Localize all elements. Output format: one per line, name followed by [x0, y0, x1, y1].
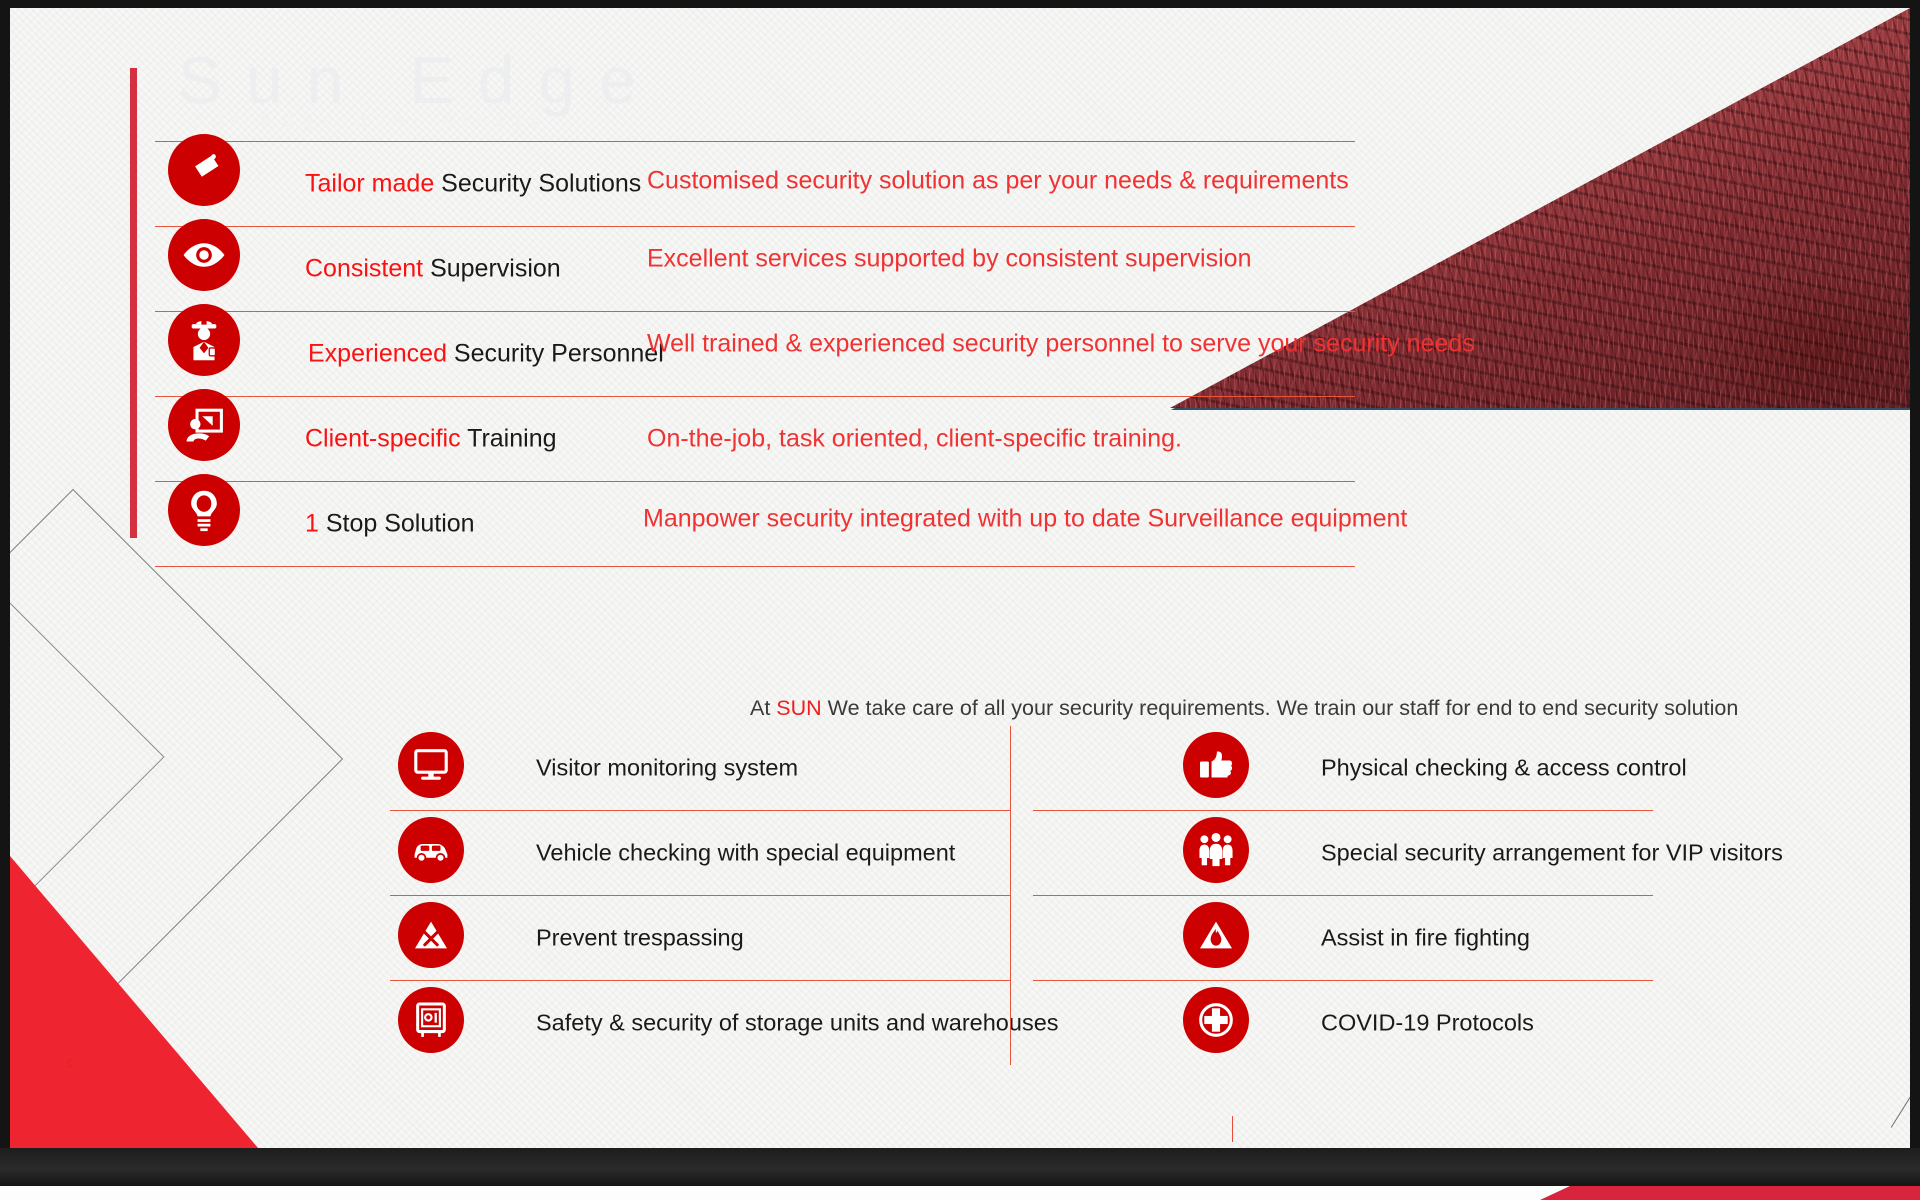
services-column-right: Physical checking & access control [1010, 726, 1653, 1065]
security-guard-icon [168, 304, 240, 376]
service-row[interactable]: Special security arrangement for VIP vis… [1033, 811, 1653, 896]
feature-title: Experienced Security Personnel [308, 340, 664, 369]
service-row[interactable]: COVID-19 Protocols [1033, 981, 1653, 1065]
fire-hazard-icon [1183, 902, 1249, 968]
page-subtitle: Our Edge over others [188, 111, 550, 133]
feature-row[interactable]: Consistent Supervision Excellent service… [155, 226, 1355, 311]
under-strip-red-accent [1540, 1186, 1920, 1200]
presentation-training-icon [168, 389, 240, 461]
tagline: At SUN We take care of all your security… [750, 696, 1738, 721]
feature-row[interactable]: 1 Stop Solution Manpower security integr… [155, 481, 1355, 567]
service-label: Vehicle checking with special equipment [536, 840, 955, 867]
feature-title: Tailor made Security Solutions [305, 170, 641, 199]
feature-description: On-the-job, task oriented, client-specif… [647, 425, 1182, 454]
service-row[interactable]: Physical checking & access control [1033, 726, 1653, 811]
feature-description: Well trained & experienced security pers… [647, 329, 1475, 358]
monitor-icon [398, 732, 464, 798]
feature-title-highlight: Tailor made [305, 170, 434, 198]
service-label: Physical checking & access control [1321, 755, 1687, 782]
title-accent-bar [130, 68, 137, 538]
feature-title: Client-specific Training [305, 425, 557, 454]
group-people-icon [1183, 817, 1249, 883]
corner-letter: c [66, 1054, 73, 1070]
page-title: Sun Edge [178, 44, 660, 117]
paintbrush-icon [168, 134, 240, 206]
feature-description: Excellent services supported by consiste… [647, 244, 1251, 273]
thumbs-up-icon [1183, 732, 1249, 798]
service-label: Visitor monitoring system [536, 755, 798, 782]
feature-title-rest: Security Personnel [447, 340, 664, 368]
feature-row[interactable]: Tailor made Security Solutions Customise… [155, 141, 1355, 226]
feature-row[interactable]: Client-specific Training On-the-job, tas… [155, 396, 1355, 481]
service-label: Special security arrangement for VIP vis… [1321, 840, 1783, 867]
service-label: Safety & security of storage units and w… [536, 1010, 1059, 1037]
tagline-after: We take care of all your security requir… [822, 696, 1739, 720]
car-icon [398, 817, 464, 883]
slide-canvas: Sun Edge Our Edge over others Tailor mad… [10, 8, 1910, 1148]
service-label: Assist in fire fighting [1321, 925, 1530, 952]
feature-title-highlight: Client-specific [305, 425, 461, 453]
feature-description: Manpower security integrated with up to … [643, 504, 1407, 533]
bottom-dark-strip [0, 1148, 1920, 1186]
feature-title-rest: Security Solutions [434, 170, 641, 198]
service-row[interactable]: Prevent trespassing [390, 896, 1010, 981]
slide-stage: Sun Edge Our Edge over others Tailor mad… [0, 0, 1920, 1200]
safe-vault-icon [398, 987, 464, 1053]
services-column-left: Visitor monitoring system Vehicle checki… [390, 726, 1010, 1065]
feature-title-rest: Stop Solution [319, 510, 475, 538]
feature-title: Consistent Supervision [305, 255, 561, 284]
lightbulb-icon [168, 474, 240, 546]
feature-title-highlight: 1 [305, 510, 319, 538]
service-row[interactable]: Assist in fire fighting [1033, 896, 1653, 981]
feature-list: Tailor made Security Solutions Customise… [155, 141, 1355, 567]
gray-tick-mark [1891, 1076, 1910, 1148]
feature-title-rest: Supervision [423, 255, 561, 283]
brand-name: SUN [776, 696, 821, 720]
service-label: Prevent trespassing [536, 925, 744, 952]
service-row[interactable]: Visitor monitoring system [390, 726, 1010, 811]
service-row[interactable]: Vehicle checking with special equipment [390, 811, 1010, 896]
medical-cross-icon [1183, 987, 1249, 1053]
no-trespassing-icon [398, 902, 464, 968]
feature-row[interactable]: Experienced Security Personnel Well trai… [155, 311, 1355, 396]
eye-icon [168, 219, 240, 291]
feature-description: Customised security solution as per your… [647, 166, 1349, 195]
service-row[interactable]: Safety & security of storage units and w… [390, 981, 1010, 1065]
feature-title-highlight: Consistent [305, 255, 423, 283]
feature-title-rest: Training [461, 425, 557, 453]
service-label: COVID-19 Protocols [1321, 1010, 1534, 1037]
tagline-before: At [750, 696, 776, 720]
feature-title-highlight: Experienced [308, 340, 447, 368]
red-tick-mark [1232, 1116, 1233, 1142]
feature-title: 1 Stop Solution [305, 510, 475, 539]
